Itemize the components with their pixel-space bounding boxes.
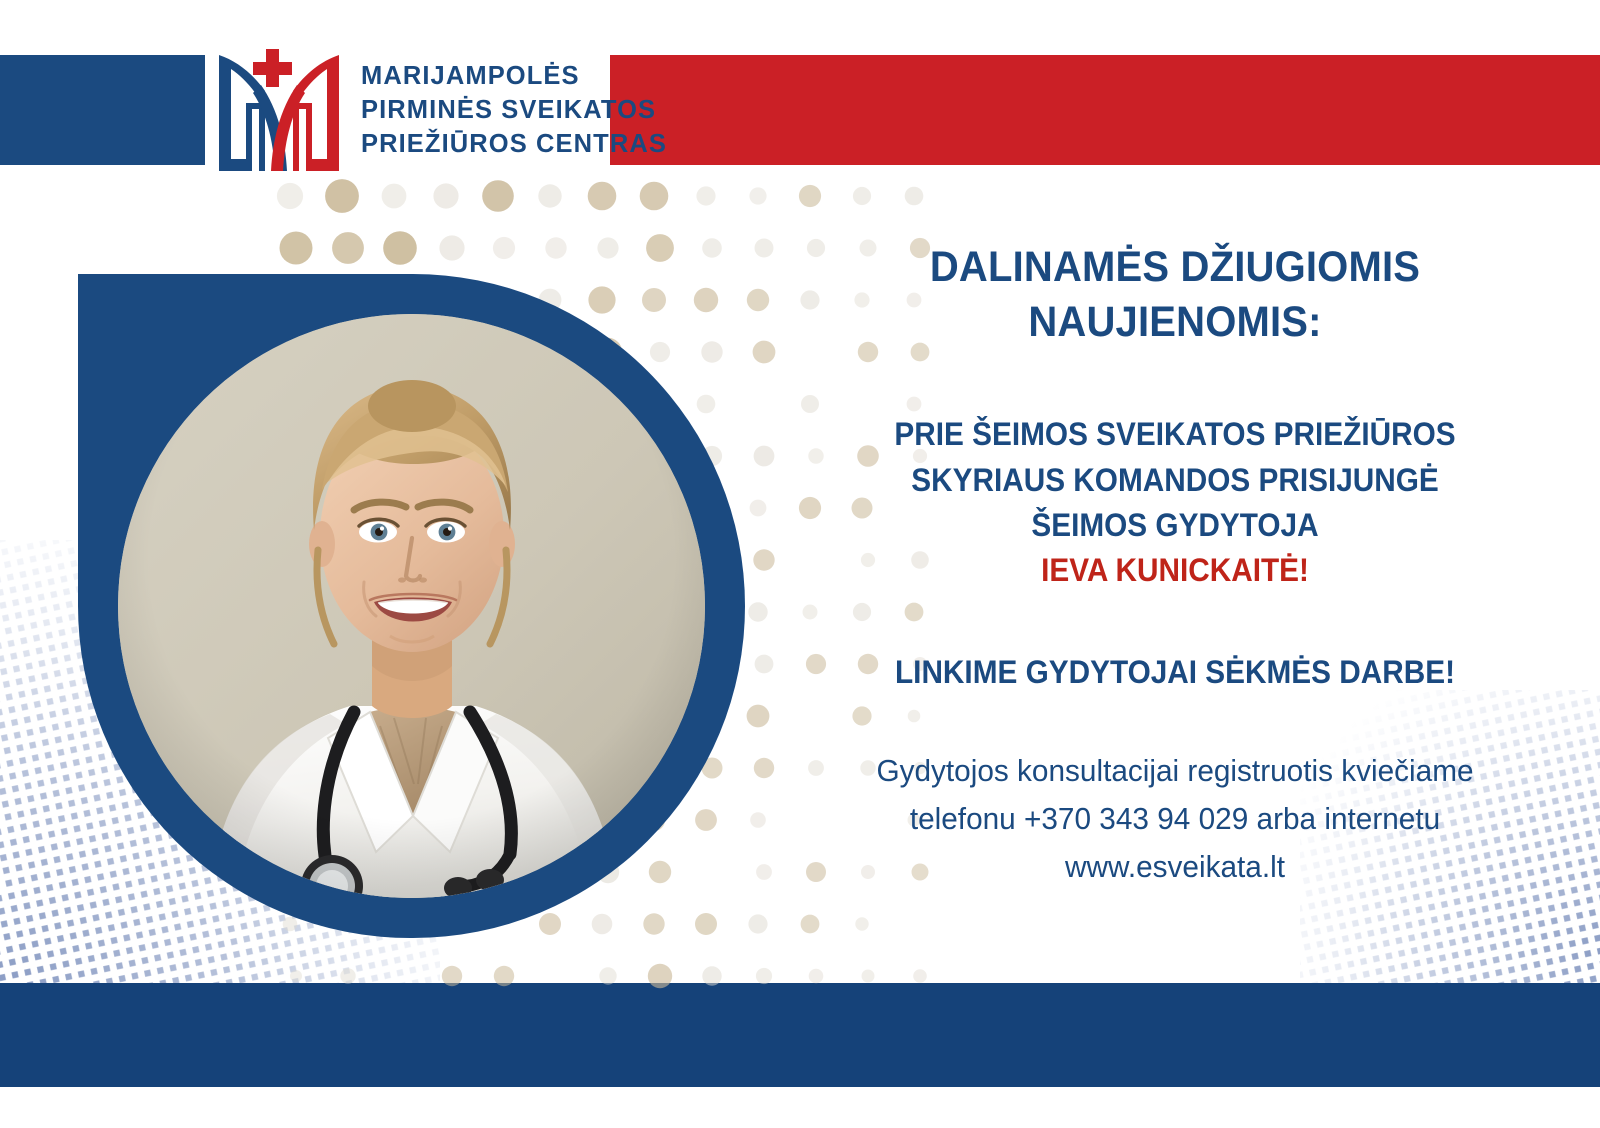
doctor-name: IEVA KUNICKAITĖ! <box>854 548 1496 593</box>
marijampole-pspc-logo-icon <box>213 47 345 175</box>
wish-message: LINKIME GYDYTOJAI SĖKMĖS DARBE! <box>854 650 1496 695</box>
contact-line-1: Gydytojos konsultacijai registruotis kvi… <box>844 747 1506 795</box>
doctor-photo-frame <box>78 274 745 938</box>
doctor-photo <box>118 314 705 898</box>
headline-line-2: NAUJIENOMIS: <box>854 295 1496 350</box>
logo: MARIJAMPOLĖS PIRMINĖS SVEIKATOS PRIEŽIŪR… <box>213 47 667 175</box>
logo-line-2: PIRMINĖS SVEIKATOS <box>361 94 667 128</box>
footer-bar-blue <box>0 983 1600 1087</box>
doctor-portrait-illustration <box>118 314 705 898</box>
poster-canvas: MARIJAMPOLĖS PIRMINĖS SVEIKATOS PRIEŽIŪR… <box>0 0 1600 1128</box>
header-bar-blue <box>0 55 205 165</box>
headline-line-1: DALINAMĖS DŽIUGIOMIS <box>854 240 1496 295</box>
announcement-line-3: ŠEIMOS GYDYTOJA <box>854 503 1496 548</box>
logo-line-1: MARIJAMPOLĖS <box>361 60 667 94</box>
message-column: DALINAMĖS DŽIUGIOMIS NAUJIENOMIS: PRIE Š… <box>830 240 1520 891</box>
header-bar-red <box>610 55 1600 165</box>
logo-text: MARIJAMPOLĖS PIRMINĖS SVEIKATOS PRIEŽIŪR… <box>361 60 667 162</box>
contact-website: www.esveikata.lt <box>844 843 1506 891</box>
announcement-line-1: PRIE ŠEIMOS SVEIKATOS PRIEŽIŪROS <box>854 412 1496 457</box>
logo-line-3: PRIEŽIŪROS CENTRAS <box>361 128 667 162</box>
contact-line-2: telefonu +370 343 94 029 arba internetu <box>844 795 1506 843</box>
announcement-line-2: SKYRIAUS KOMANDOS PRISIJUNGĖ <box>854 458 1496 503</box>
